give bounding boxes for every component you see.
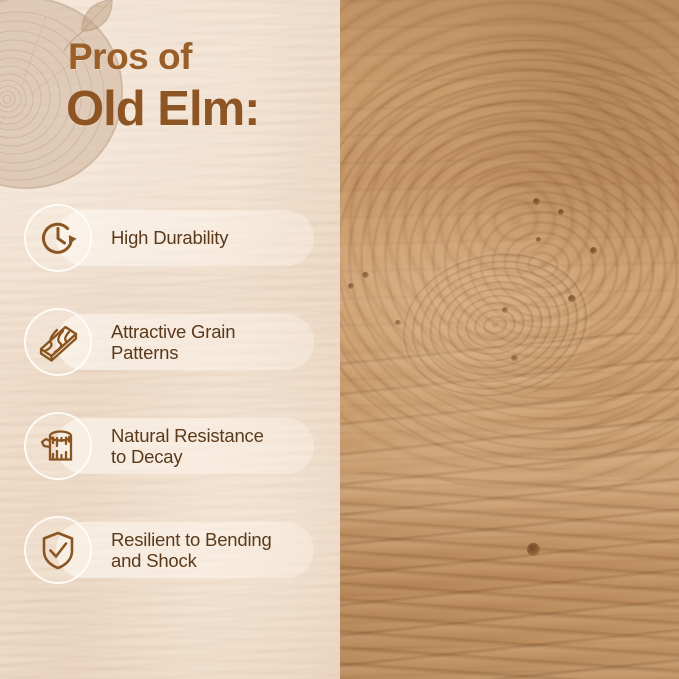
feature-label-text: High Durability (111, 227, 228, 248)
elm-wood-photo-panel (340, 0, 679, 679)
feature-label: Resilient to Bending and Shock (111, 529, 272, 572)
list-item[interactable]: Resilient to Bending and Shock (0, 516, 340, 584)
feature-label: Attractive Grain Patterns (111, 321, 235, 364)
feature-icon-circle (24, 204, 92, 272)
pros-list: High Durability (0, 204, 340, 620)
list-item[interactable]: High Durability (0, 204, 340, 272)
clock-arrow-icon (37, 217, 79, 259)
feature-label: Natural Resistance to Decay (111, 425, 264, 468)
list-item[interactable]: Attractive Grain Patterns (0, 308, 340, 376)
left-content-panel: Pros of Old Elm: High Dura (0, 0, 340, 679)
feature-icon-circle (24, 516, 92, 584)
feature-icon-circle (24, 308, 92, 376)
feature-label-line2: Patterns (111, 342, 178, 363)
page-title: Pros of Old Elm: (68, 38, 259, 137)
feature-label-line2: to Decay (111, 446, 182, 467)
feature-icon-circle (24, 412, 92, 480)
feature-label-line1: Attractive Grain (111, 321, 235, 342)
title-line-pros-of: Pros of (68, 38, 259, 77)
title-line-old-elm: Old Elm: (66, 83, 259, 137)
shield-check-icon (37, 529, 79, 571)
log-trunk-icon (36, 424, 80, 468)
infographic-canvas: Pros of Old Elm: High Dura (0, 0, 679, 679)
feature-label-line1: Natural Resistance (111, 425, 264, 446)
wood-plank-icon (36, 320, 80, 364)
wood-lighting-shade (340, 0, 679, 679)
feature-label-line2: and Shock (111, 550, 197, 571)
list-item[interactable]: Natural Resistance to Decay (0, 412, 340, 480)
feature-label: High Durability (111, 227, 228, 248)
feature-label-line1: Resilient to Bending (111, 529, 272, 550)
